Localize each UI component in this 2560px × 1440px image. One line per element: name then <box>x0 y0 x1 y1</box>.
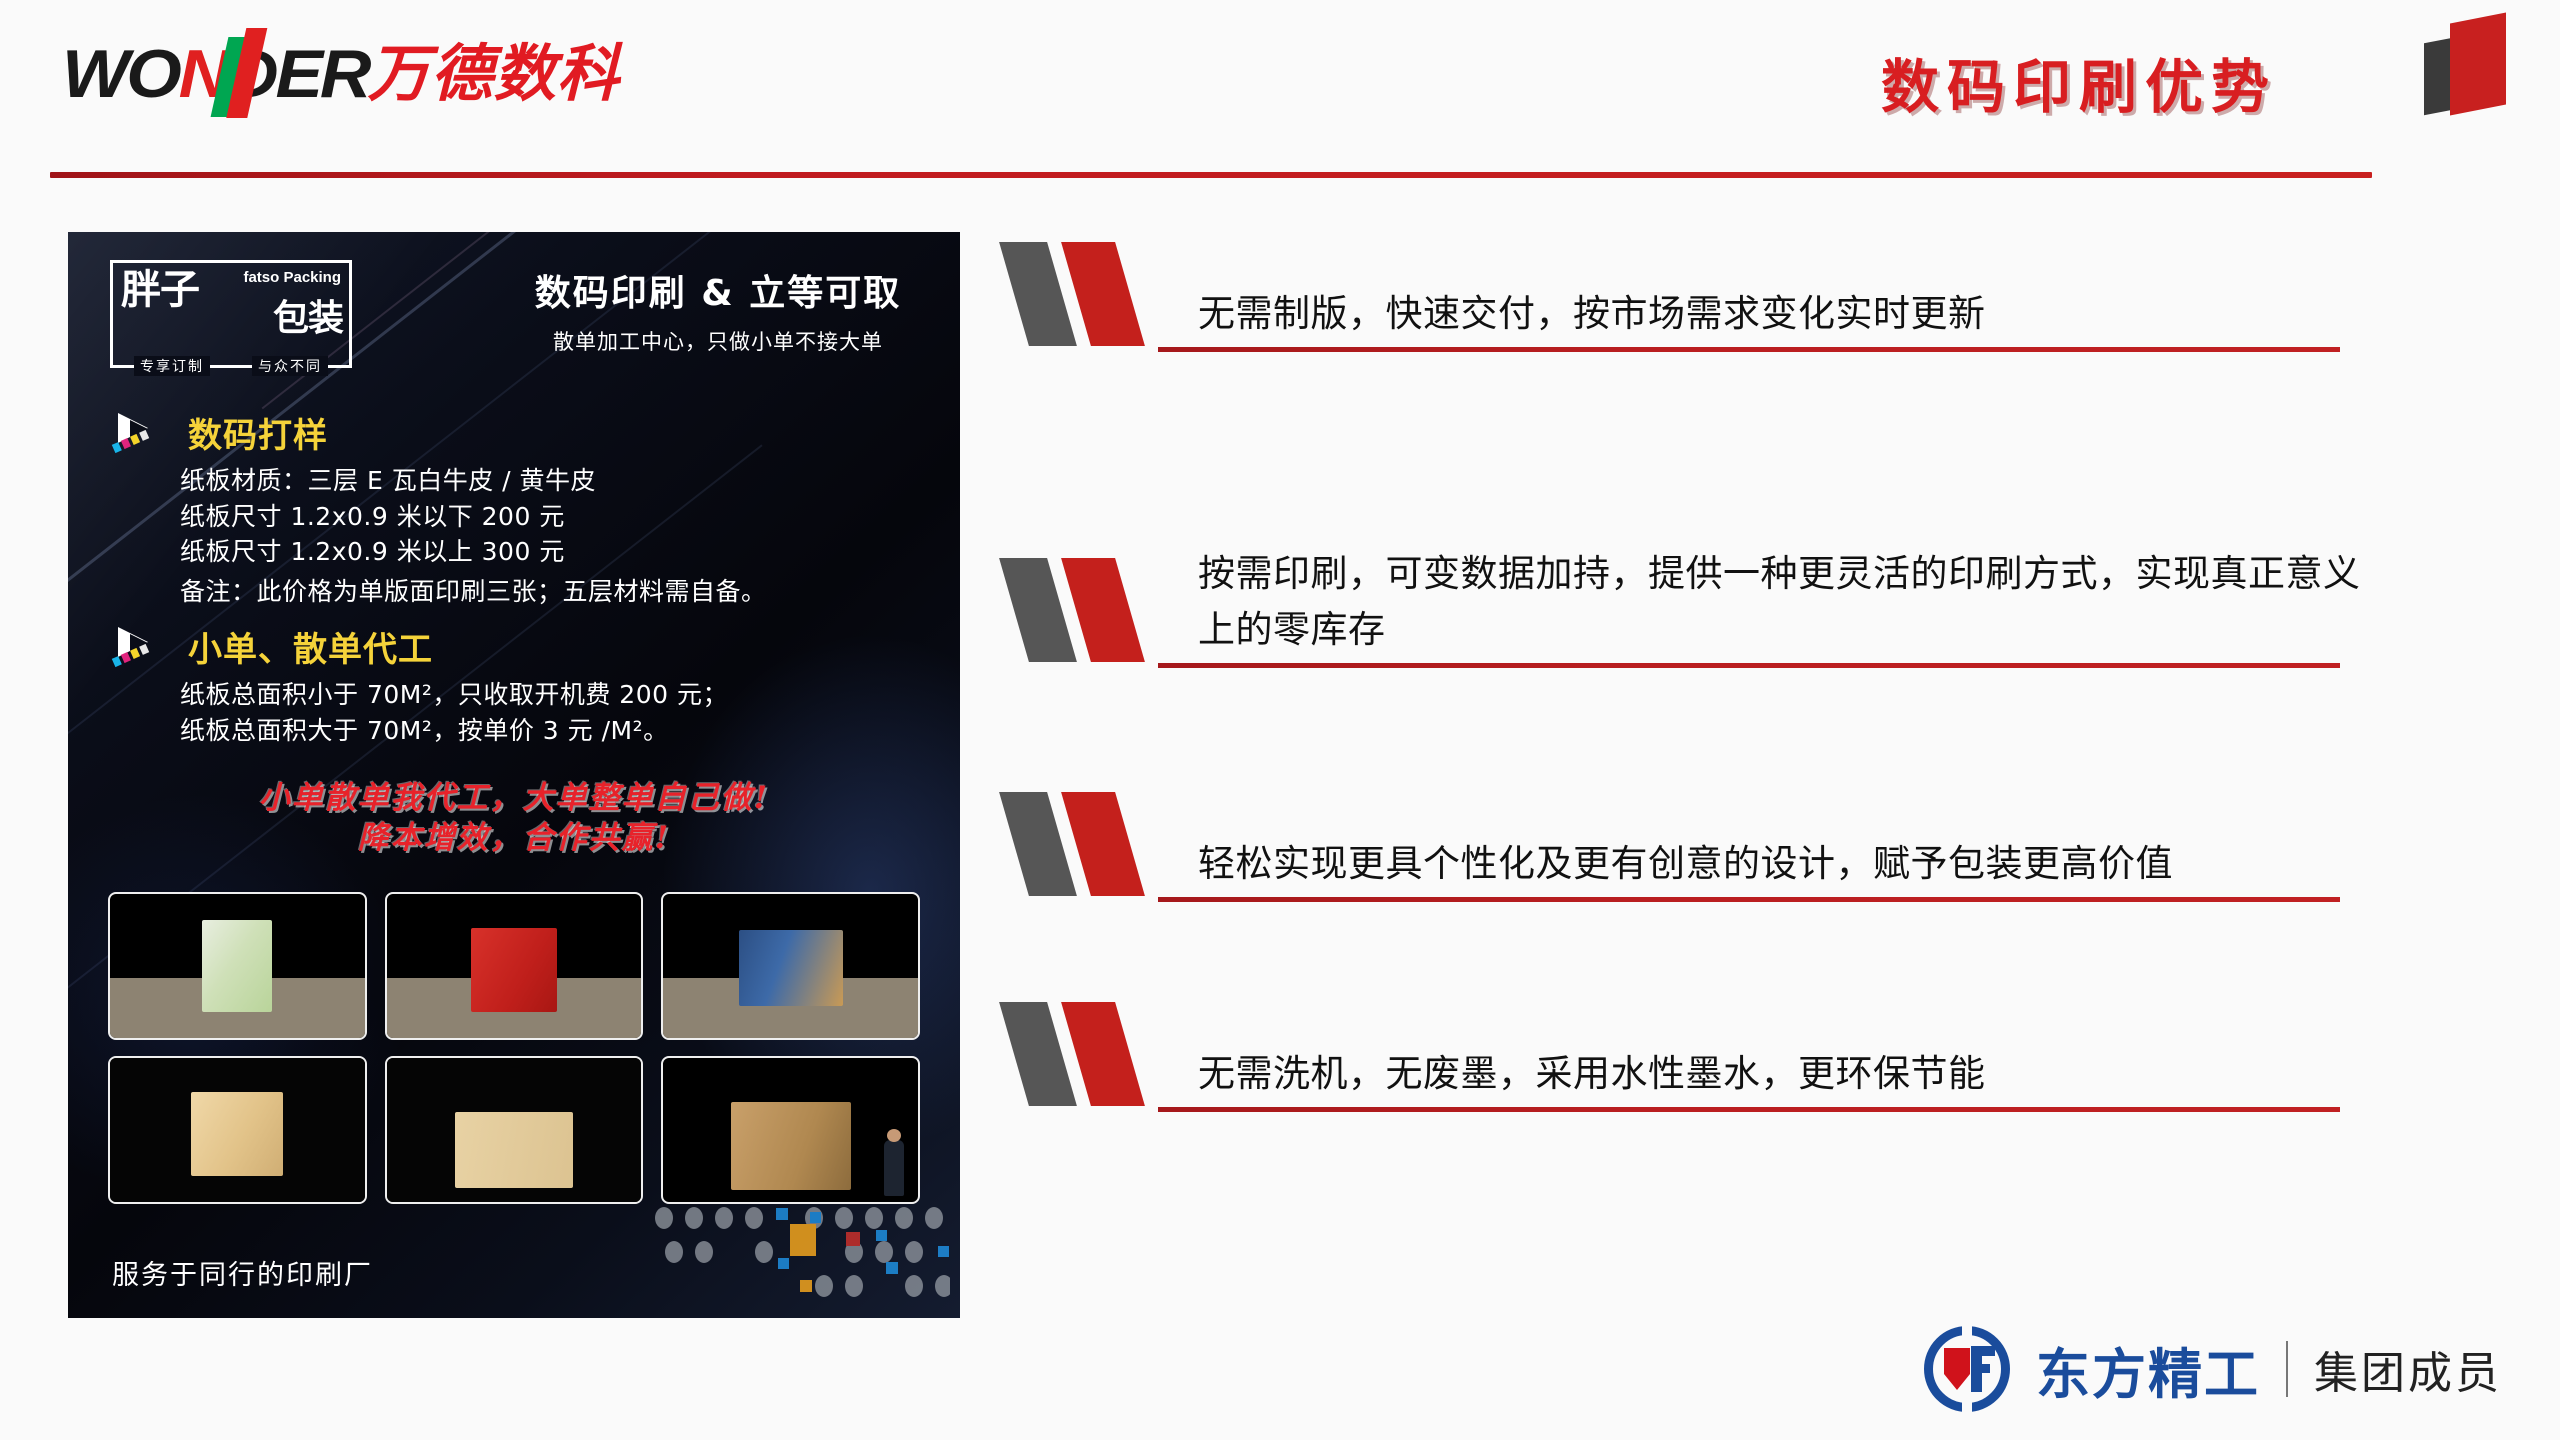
bullet-marker-icon <box>1010 1002 1180 1106</box>
advantage-item-4[interactable]: 无需洗机，无废墨，采用水性墨水，更环保节能 <box>1010 1046 2390 1112</box>
product-thumbnail <box>661 892 920 1040</box>
promo-poster-image: 胖子 fatso Packing 包装 专享订制 与众不同 数码印刷 & 立等可… <box>68 232 960 1318</box>
poster-footer-text: 服务于同行的印刷厂 <box>112 1253 373 1292</box>
poster-section-header: 小单、散单代工 <box>112 622 932 671</box>
bullet-marker-icon <box>1010 558 1180 662</box>
arrow-chevron-icon <box>112 625 174 669</box>
header-divider <box>50 172 2372 178</box>
corner-decoration-icon <box>2420 10 2530 115</box>
advantage-underline <box>1158 347 2340 352</box>
wonder-brand-logo: WONDER 万德数科 <box>62 38 620 110</box>
poster-line: 纸板总面积大于 70M²，按单价 3 元 /M²。 <box>180 713 932 749</box>
poster-headline: 数码印刷 & 立等可取 <box>508 264 928 316</box>
bullet-marker-red <box>1061 558 1145 662</box>
poster-line: 纸板材质：三层 E 瓦白牛皮 / 黄牛皮 <box>180 463 932 499</box>
fatso-logo-en: fatso Packing <box>243 269 341 286</box>
fatso-logo-cn-right: 包装 <box>273 289 343 341</box>
advantage-text: 无需洗机，无废墨，采用水性墨水，更环保节能 <box>1198 1046 2390 1112</box>
advantage-item-2[interactable]: 按需印刷，可变数据加持，提供一种更灵活的印刷方式，实现真正意义上的零库存 <box>1010 546 2390 668</box>
advantage-underline <box>1158 663 2340 668</box>
fatso-logo-cn-left: 胖子 <box>121 269 199 311</box>
product-thumbnail <box>385 892 644 1040</box>
poster-section-lines: 纸板总面积小于 70M²，只收取开机费 200 元； 纸板总面积大于 70M²，… <box>180 677 932 748</box>
poster-section-oem: 小单、散单代工 纸板总面积小于 70M²，只收取开机费 200 元； 纸板总面积… <box>112 622 932 748</box>
wonder-chinese-name: 万德数科 <box>368 43 620 105</box>
poster-slogan-line-2: 降本增效，合作共赢! <box>68 818 960 858</box>
footer-company-name: 东方精工 <box>2036 1330 2260 1409</box>
poster-slogan-line-1: 小单散单我代工，大单整单自己做! <box>68 778 960 818</box>
poster-section-note: 备注：此价格为单版面印刷三张；五层材料需自备。 <box>180 574 932 610</box>
fatso-packing-logo: 胖子 fatso Packing 包装 专享订制 与众不同 <box>110 260 352 368</box>
arrow-chevron-icon <box>112 411 174 455</box>
footer-member-label: 集团成员 <box>2314 1337 2502 1401</box>
poster-section-proofing: 数码打样 纸板材质：三层 E 瓦白牛皮 / 黄牛皮 纸板尺寸 1.2x0.9 米… <box>112 408 932 609</box>
bullet-marker-red <box>1061 1002 1145 1106</box>
advantage-text: 按需印刷，可变数据加持，提供一种更灵活的印刷方式，实现真正意义上的零库存 <box>1198 546 2363 668</box>
slide-root: WONDER 万德数科 数码印刷优势 胖子 fatso Packing 包装 专… <box>0 0 2560 1440</box>
product-thumbnail <box>385 1056 644 1204</box>
fatso-tagline-right: 与众不同 <box>252 356 328 376</box>
advantage-text: 轻松实现更具个性化及更有创意的设计，赋予包装更高价值 <box>1198 836 2390 902</box>
poster-subheadline: 散单加工中心，只做小单不接大单 <box>508 326 928 356</box>
poster-slogan: 小单散单我代工，大单整单自己做! 降本增效，合作共赢! <box>68 778 960 859</box>
fatso-tagline-left: 专享订制 <box>134 356 210 376</box>
wonder-wo: WO <box>62 36 179 112</box>
fatso-logo-taglines: 专享订制 与众不同 <box>113 356 349 376</box>
poster-headline-block: 数码印刷 & 立等可取 散单加工中心，只做小单不接大单 <box>508 264 928 356</box>
product-thumbnail <box>661 1056 920 1204</box>
poster-section-lines: 纸板材质：三层 E 瓦白牛皮 / 黄牛皮 纸板尺寸 1.2x0.9 米以下 20… <box>180 463 932 609</box>
product-thumbnail <box>108 1056 367 1204</box>
product-thumbnail <box>108 892 367 1040</box>
bullet-marker-red <box>1061 242 1145 346</box>
poster-section-header: 数码打样 <box>112 408 932 457</box>
bullet-marker-icon <box>1010 792 1180 896</box>
advantage-underline <box>1158 1107 2340 1112</box>
dot-pattern-decoration <box>650 1202 950 1312</box>
dongfang-emblem-icon <box>1924 1326 2010 1412</box>
poster-product-gallery <box>108 892 920 1204</box>
page-title: 数码印刷优势 <box>1881 40 2277 124</box>
bullet-marker-red <box>1061 792 1145 896</box>
poster-section-title: 数码打样 <box>188 408 328 457</box>
poster-section-title: 小单、散单代工 <box>188 622 433 671</box>
corner-red-shape <box>2450 13 2506 116</box>
advantage-item-1[interactable]: 无需制版，快速交付，按市场需求变化实时更新 <box>1010 286 2390 352</box>
advantage-underline <box>1158 897 2340 902</box>
wonder-wordmark: WONDER <box>62 40 368 108</box>
poster-line: 纸板总面积小于 70M²，只收取开机费 200 元； <box>180 677 932 713</box>
advantage-item-3[interactable]: 轻松实现更具个性化及更有创意的设计，赋予包装更高价值 <box>1010 836 2390 902</box>
bullet-marker-icon <box>1010 242 1180 346</box>
poster-line: 纸板尺寸 1.2x0.9 米以下 200 元 <box>180 499 932 535</box>
group-footer-logo: 东方精工 集团成员 <box>1924 1326 2502 1412</box>
poster-line: 纸板尺寸 1.2x0.9 米以上 300 元 <box>180 534 932 570</box>
advantage-text: 无需制版，快速交付，按市场需求变化实时更新 <box>1198 286 2390 352</box>
footer-separator <box>2286 1341 2288 1397</box>
